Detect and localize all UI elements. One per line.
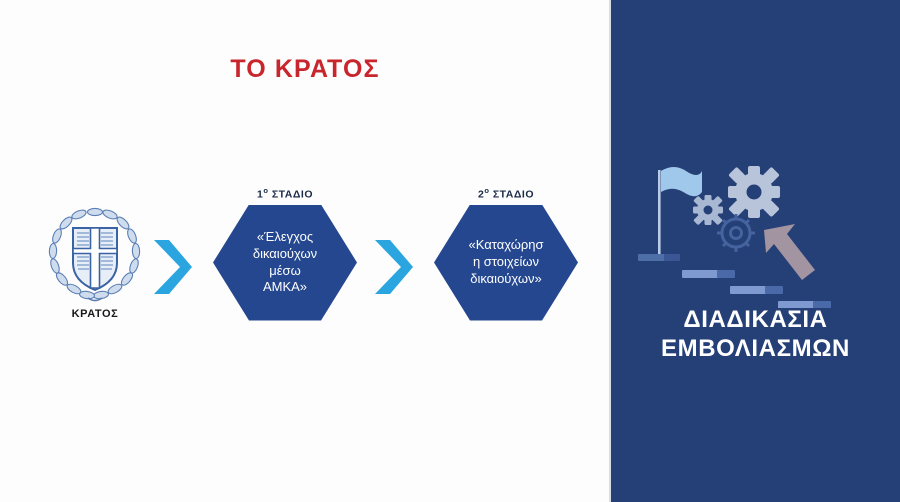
gear-icon <box>728 166 780 218</box>
stage-2-label: 2ο ΣΤΑΔΙΟ <box>432 186 580 201</box>
right-panel-title-line-1: ΔΙΑΔΙΚΑΣΙΑ <box>611 305 900 334</box>
stage-2-text-line-2: η στοιχείων <box>469 254 544 271</box>
stage-2[interactable]: 2ο ΣΤΑΔΙΟ «Καταχώρησ η στοιχείων δικαιού… <box>432 186 580 321</box>
greek-coat-of-arms-icon <box>45 205 145 305</box>
step-bar-3-tail <box>765 286 783 294</box>
flag-pole-icon <box>658 170 661 254</box>
right-panel-title-line-2: ΕΜΒΟΛΙΑΣΜΩΝ <box>611 334 900 363</box>
process-artwork <box>630 158 885 308</box>
chevron-right-icon <box>373 238 415 296</box>
stage-1[interactable]: 1ο ΣΤΑΔΙΟ «Έλεγχος δικαιούχων μέσω ΑΜΚΑ» <box>211 186 359 321</box>
stage-2-text-line-1: «Καταχώρησ <box>469 237 544 254</box>
step-bar-1-tail <box>664 254 680 261</box>
chevron-right-icon <box>152 238 194 296</box>
flag-icon <box>661 167 702 196</box>
slide-canvas: ΤΟ ΚΡΑΤΟΣ <box>0 0 900 502</box>
stage-2-hexagon[interactable]: «Καταχώρησ η στοιχείων δικαιούχων» <box>434 205 578 321</box>
page-title: ΤΟ ΚΡΑΤΟΣ <box>0 55 610 84</box>
emblem-caption: ΚΡΑΤΟΣ <box>37 308 153 320</box>
stage-1-text-line-2: δικαιούχων <box>253 246 317 263</box>
stage-2-word: ΣΤΑΔΙΟ <box>493 189 534 201</box>
stage-1-hexagon[interactable]: «Έλεγχος δικαιούχων μέσω ΑΜΚΑ» <box>213 205 357 321</box>
state-emblem-block: ΚΡΑΤΟΣ <box>37 205 153 320</box>
step-bar-2-tail <box>717 270 735 278</box>
stage-1-text-line-3: μέσω <box>253 263 317 280</box>
arrow-up-right-icon <box>764 224 815 280</box>
stage-2-text-line-3: δικαιούχων» <box>469 271 544 288</box>
stage-1-text-line-4: ΑΜΚΑ» <box>253 279 317 296</box>
stage-1-text-line-1: «Έλεγχος <box>253 229 317 246</box>
stage-1-label: 1ο ΣΤΑΔΙΟ <box>211 186 359 201</box>
gear-icon <box>693 195 723 225</box>
stage-1-ordinal: ο <box>263 186 268 195</box>
gear-outline-icon <box>717 214 755 252</box>
stage-2-ordinal: ο <box>484 186 489 195</box>
right-panel-title: ΔΙΑΔΙΚΑΣΙΑ ΕΜΒΟΛΙΑΣΜΩΝ <box>611 305 900 364</box>
stage-1-text: «Έλεγχος δικαιούχων μέσω ΑΜΚΑ» <box>237 229 333 297</box>
stage-2-text: «Καταχώρησ η στοιχείων δικαιούχων» <box>453 237 560 288</box>
stage-1-word: ΣΤΑΔΙΟ <box>272 189 313 201</box>
